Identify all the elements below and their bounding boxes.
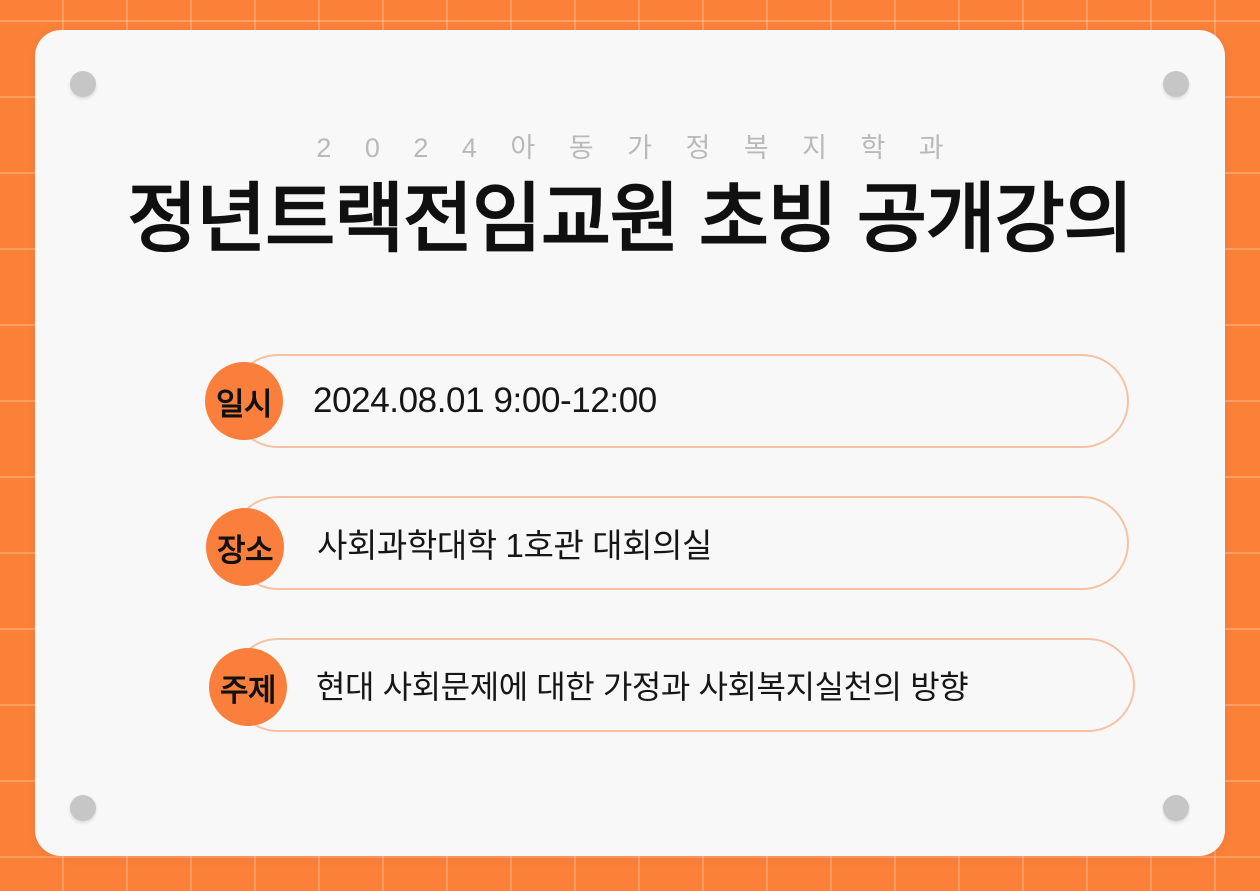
screw-dot-top-left-icon <box>70 71 96 97</box>
poster-card: 2 0 2 4 아 동 가 정 복 지 학 과 정년트랙전임교원 초빙 공개강의… <box>35 30 1225 856</box>
info-row-place-badge: 장소 <box>206 508 284 586</box>
info-row-list: 일시 2024.08.01 9:00-12:00 장소 사회과학대학 1호관 대… <box>35 354 1225 780</box>
poster-background: 2 0 2 4 아 동 가 정 복 지 학 과 정년트랙전임교원 초빙 공개강의… <box>0 0 1260 891</box>
info-row-place: 장소 사회과학대학 1호관 대회의실 <box>35 496 1225 590</box>
page-title: 정년트랙전임교원 초빙 공개강의 <box>35 182 1225 258</box>
department-eyebrow: 2 0 2 4 아 동 가 정 복 지 학 과 <box>35 126 1225 165</box>
info-row-topic-badge: 주제 <box>209 648 287 726</box>
screw-dot-top-right-icon <box>1163 71 1189 97</box>
info-row-topic-value: 현대 사회문제에 대한 가정과 사회복지실천의 방향 <box>316 638 968 732</box>
info-row-date-badge: 일시 <box>205 362 283 440</box>
info-row-date: 일시 2024.08.01 9:00-12:00 <box>35 354 1225 448</box>
info-row-place-value: 사회과학대학 1호관 대회의실 <box>317 496 712 590</box>
info-row-date-value: 2024.08.01 9:00-12:00 <box>313 354 657 448</box>
screw-dot-bottom-right-icon <box>1163 795 1189 821</box>
info-row-topic: 주제 현대 사회문제에 대한 가정과 사회복지실천의 방향 <box>35 638 1225 732</box>
screw-dot-bottom-left-icon <box>70 795 96 821</box>
